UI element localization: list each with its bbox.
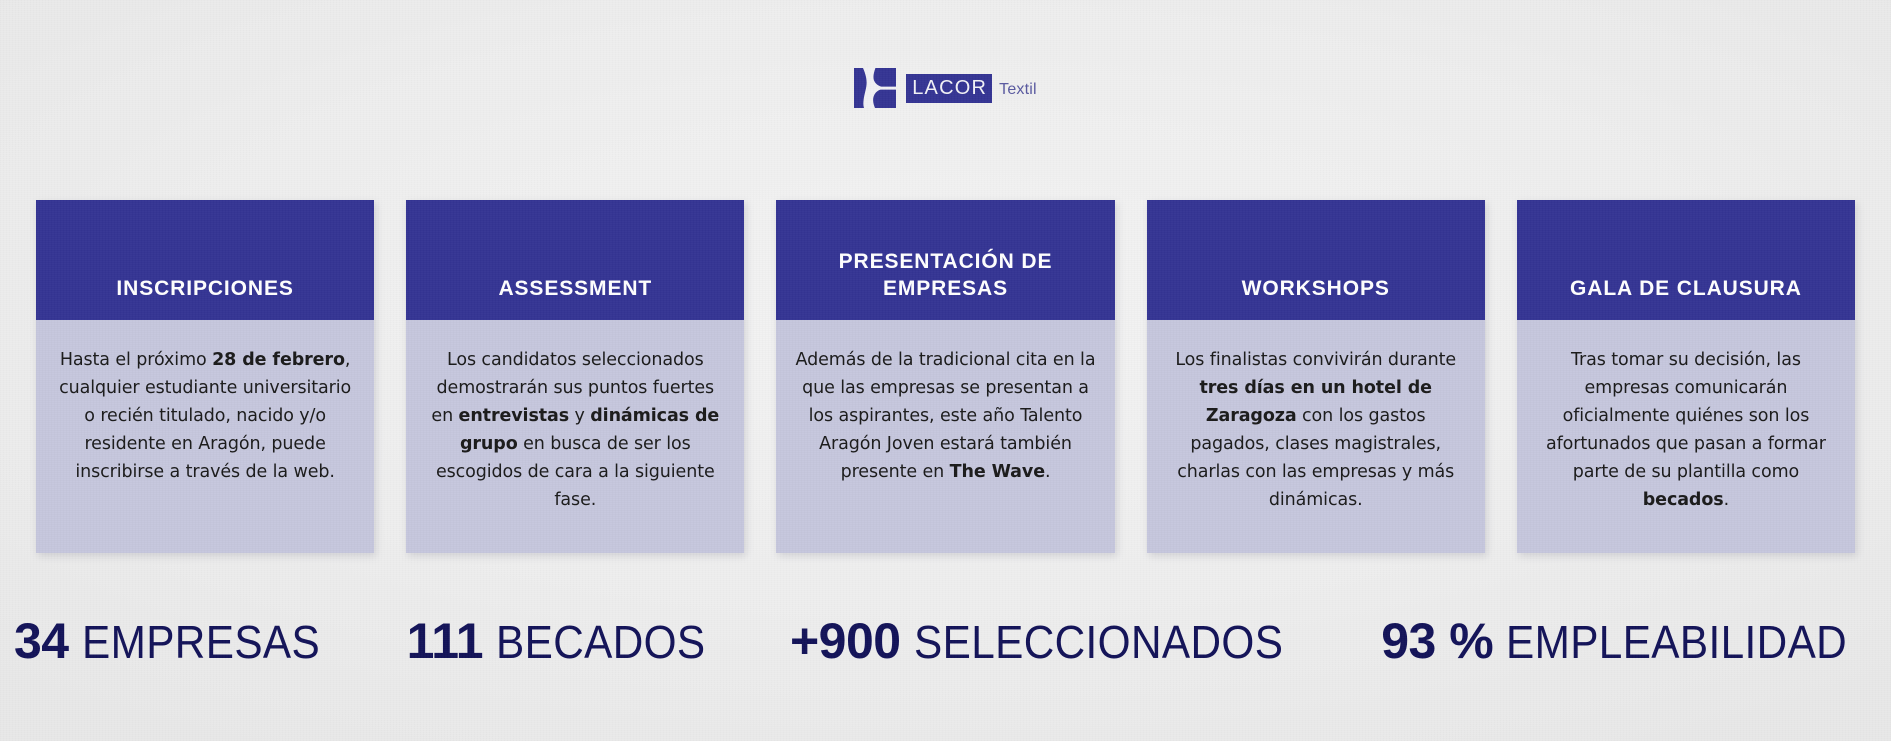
- phase-card: INSCRIPCIONESHasta el próximo 28 de febr…: [36, 200, 374, 553]
- stat-label: EMPRESAS: [82, 619, 320, 665]
- phase-card: PRESENTACIÓN DE EMPRESASAdemás de la tra…: [776, 200, 1114, 553]
- phase-card-header: ASSESSMENT: [406, 200, 744, 320]
- brand-sub-wordmark: Textil: [999, 82, 1037, 98]
- stat-label: BECADOS: [496, 619, 706, 665]
- phase-card-description: Hasta el próximo 28 de febrero, cualquie…: [54, 346, 356, 486]
- phase-card-description: Los candidatos seleccionados demostrarán…: [424, 346, 726, 514]
- phase-card-body: Los finalistas convivirán durante tres d…: [1147, 320, 1485, 553]
- lacor-logo-mark-icon: [854, 68, 896, 108]
- phase-card-body: Los candidatos seleccionados demostrarán…: [406, 320, 744, 553]
- phase-card: ASSESSMENTLos candidatos seleccionados d…: [406, 200, 744, 553]
- stat-label: EMPLEABILIDAD: [1506, 619, 1847, 665]
- stat-label: SELECCIONADOS: [914, 619, 1283, 665]
- brand-wordmark: LACOR: [906, 74, 992, 103]
- stat-item: 111BECADOS: [407, 616, 724, 666]
- phase-card-header: INSCRIPCIONES: [36, 200, 374, 320]
- stats-row: 34EMPRESAS111BECADOS+900SELECCIONADOS93 …: [14, 616, 1877, 666]
- stat-item: +900SELECCIONADOS: [790, 616, 1315, 666]
- phase-card-title: GALA DE CLAUSURA: [1570, 276, 1802, 302]
- stat-number: 34: [14, 616, 69, 666]
- phase-card: WORKSHOPSLos finalistas convivirán duran…: [1147, 200, 1485, 553]
- phase-card-body: Tras tomar su decisión, las empresas com…: [1517, 320, 1855, 553]
- phase-card-title: WORKSHOPS: [1242, 276, 1390, 302]
- phase-card-body: Además de la tradicional cita en la que …: [776, 320, 1114, 553]
- phase-cards-row: INSCRIPCIONESHasta el próximo 28 de febr…: [36, 200, 1855, 553]
- phase-card: GALA DE CLAUSURATras tomar su decisión, …: [1517, 200, 1855, 553]
- phase-card-header: WORKSHOPS: [1147, 200, 1485, 320]
- stat-number: +900: [790, 616, 901, 666]
- stat-number: 93 %: [1381, 616, 1493, 666]
- phase-card-description: Además de la tradicional cita en la que …: [794, 346, 1096, 486]
- phase-card-body: Hasta el próximo 28 de febrero, cualquie…: [36, 320, 374, 553]
- brand-logo: LACOR Textil: [0, 68, 1891, 108]
- phase-card-header: GALA DE CLAUSURA: [1517, 200, 1855, 320]
- phase-card-title: INSCRIPCIONES: [116, 276, 293, 302]
- phase-card-title: PRESENTACIÓN DE EMPRESAS: [786, 249, 1104, 302]
- phase-card-header: PRESENTACIÓN DE EMPRESAS: [776, 200, 1114, 320]
- brand-wordmark-lockup: LACOR Textil: [906, 74, 1037, 103]
- phase-card-description: Los finalistas convivirán durante tres d…: [1165, 346, 1467, 514]
- stat-item: 93 %EMPLEABILIDAD: [1381, 616, 1877, 666]
- phase-card-description: Tras tomar su decisión, las empresas com…: [1535, 346, 1837, 514]
- phase-card-title: ASSESSMENT: [498, 276, 652, 302]
- stat-number: 111: [407, 616, 483, 666]
- stat-item: 34EMPRESAS: [14, 616, 340, 666]
